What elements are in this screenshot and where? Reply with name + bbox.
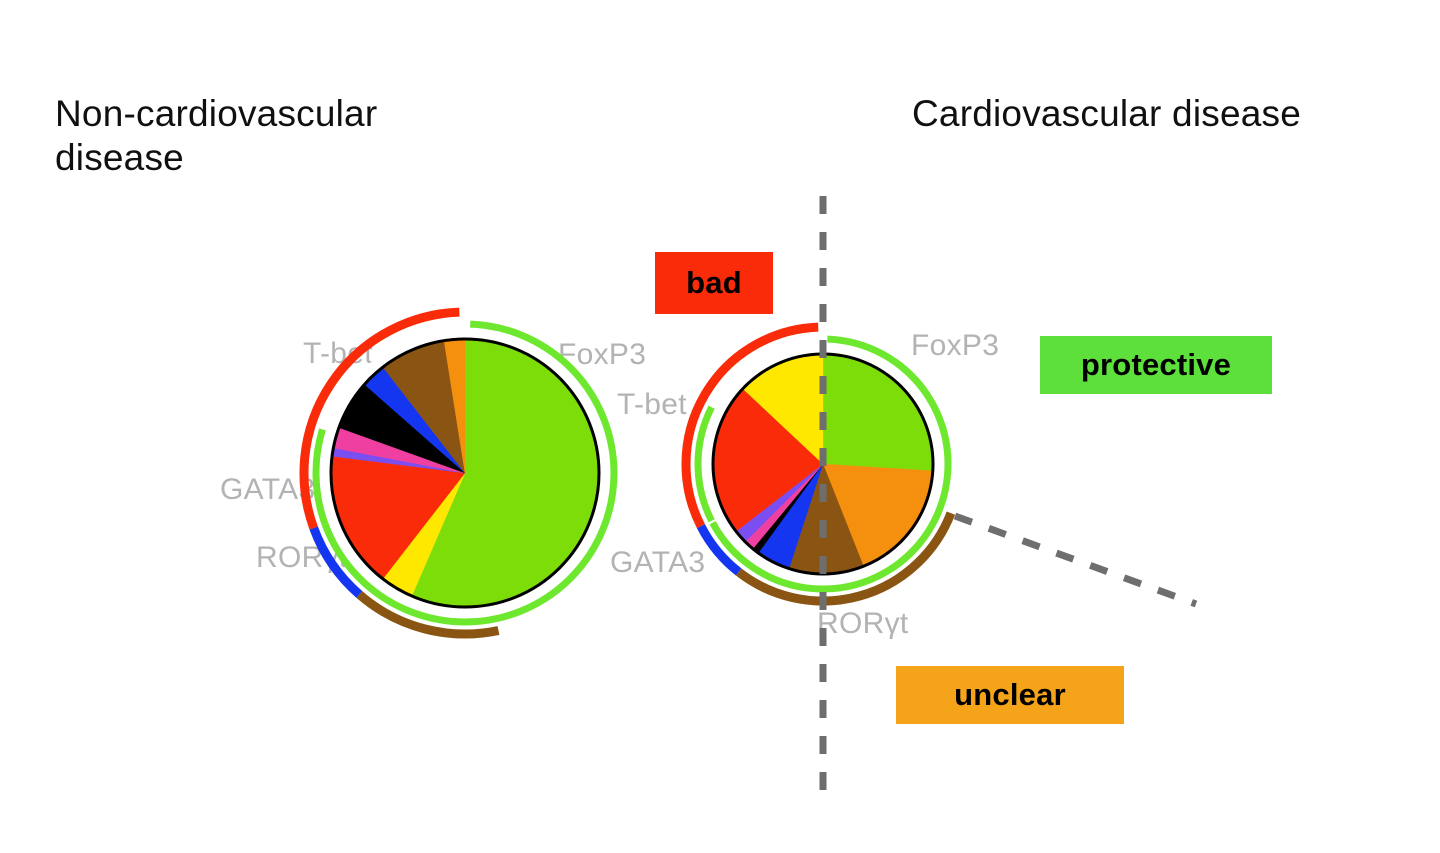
pie-chart-artwork [0, 0, 1440, 853]
figure-canvas: Non-cardiovascular disease Cardiovascula… [0, 0, 1440, 853]
pie-chart-cvd [686, 327, 951, 601]
pie-chart-non-cvd [304, 312, 612, 634]
divider-diagonal [955, 516, 1196, 604]
pie-slice [823, 354, 933, 471]
